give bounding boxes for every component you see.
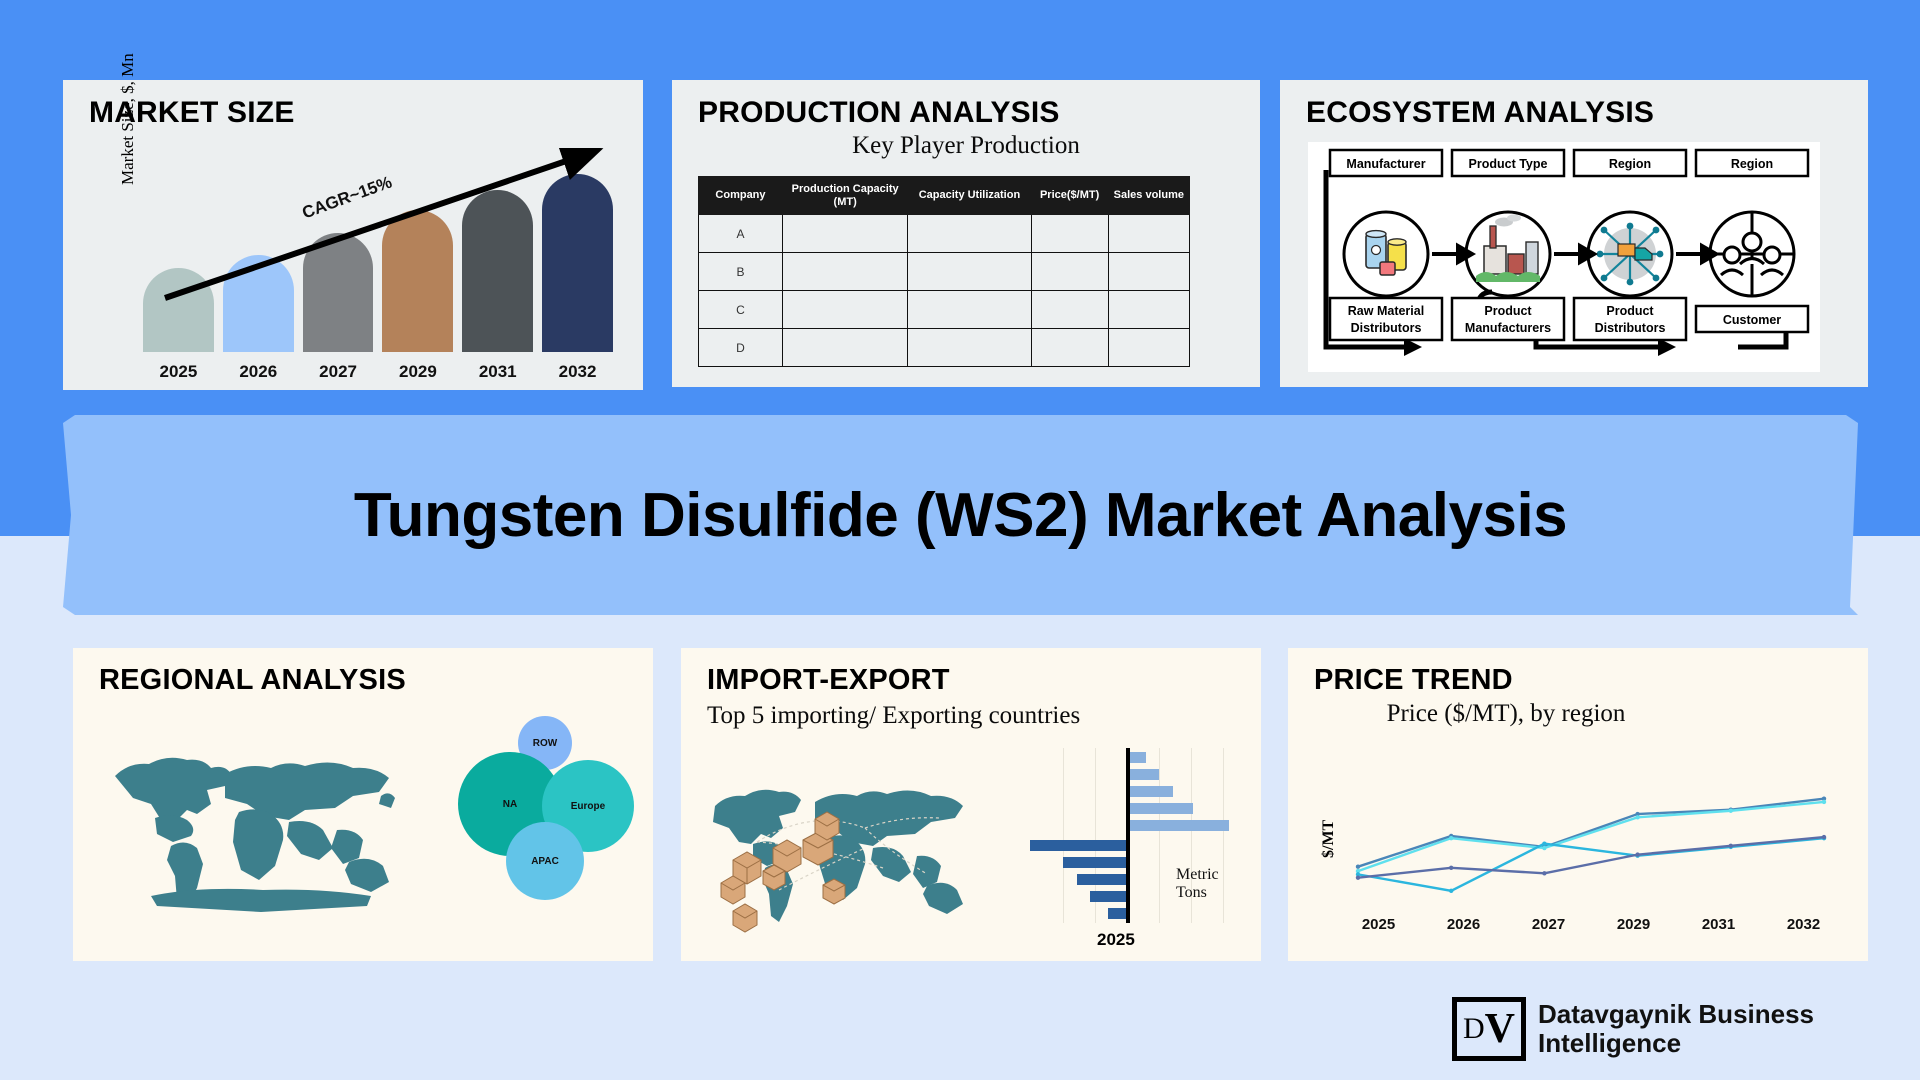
table-cell-volume[interactable] (1108, 291, 1189, 329)
col-header-price: Price($/MT) (1031, 177, 1108, 215)
tornado-year-label: 2025 (1097, 930, 1135, 950)
production-analysis-subtitle: Key Player Production (672, 132, 1260, 160)
col-header-sales-volume: Sales volume (1108, 177, 1189, 215)
tornado-bar-export (1030, 840, 1126, 851)
price-trend-x-tick: 2029 (1591, 916, 1676, 933)
market-size-bar (382, 210, 453, 352)
market-size-x-tick: 2031 (462, 362, 533, 382)
import-export-tornado-chart: 2025 Metric Tons (1001, 748, 1251, 938)
table-cell-price[interactable] (1031, 253, 1108, 291)
ecosystem-top-label: Product Type (1469, 157, 1548, 171)
import-export-title: IMPORT-EXPORT (707, 664, 950, 697)
ecosystem-bottom-label: Distributors (1351, 321, 1422, 335)
market-size-bar (223, 255, 294, 352)
world-map-icon (93, 726, 433, 926)
price-trend-x-tick: 2025 (1336, 916, 1421, 933)
market-size-x-tick: 2025 (143, 362, 214, 382)
ecosystem-bottom-label: Product (1606, 304, 1654, 318)
table-cell-company[interactable]: C (699, 291, 783, 329)
price-trend-data-point (1356, 864, 1360, 868)
tornado-bar-export (1090, 891, 1126, 902)
market-size-bar (303, 233, 374, 352)
price-trend-lines (1336, 786, 1846, 906)
ecosystem-bottom-label: Manufacturers (1465, 321, 1551, 335)
title-banner: Tungsten Disulfide (WS2) Market Analysis (63, 415, 1858, 615)
table-cell-price[interactable] (1031, 215, 1108, 253)
price-trend-x-tick: 2032 (1761, 916, 1846, 933)
price-trend-data-point (1635, 852, 1639, 856)
logo-wordmark: Datavgaynik Business Intelligence (1538, 1000, 1814, 1057)
price-trend-data-point (1542, 841, 1546, 845)
price-trend-data-point (1449, 836, 1453, 840)
table-cell-company[interactable]: B (699, 253, 783, 291)
price-trend-title: PRICE TREND (1314, 664, 1513, 697)
panel-import-export: IMPORT-EXPORT Top 5 importing/ Exporting… (681, 648, 1261, 961)
tornado-bar-export (1108, 908, 1126, 919)
page-title: Tungsten Disulfide (WS2) Market Analysis (354, 480, 1567, 551)
distribution-network-icon (1597, 223, 1664, 286)
tornado-bar-import (1130, 752, 1146, 763)
table-cell-utilization[interactable] (908, 215, 1031, 253)
table-header-row: Company Production Capacity (MT) Capacit… (699, 177, 1190, 215)
logo-line-2: Intelligence (1538, 1029, 1814, 1058)
logo-letter-d: D (1463, 1014, 1485, 1044)
market-size-plot: 202520262027202920312032 CAGR~15% (143, 148, 613, 388)
market-size-x-tick: 2026 (223, 362, 294, 382)
table-cell-utilization[interactable] (908, 329, 1031, 367)
table-cell-utilization[interactable] (908, 253, 1031, 291)
ecosystem-bottom-label: Distributors (1595, 321, 1666, 335)
logo-letter-v: V (1485, 1008, 1515, 1050)
price-trend-data-point (1635, 815, 1639, 819)
col-header-capacity-utilization: Capacity Utilization (908, 177, 1031, 215)
table-cell-price[interactable] (1031, 291, 1108, 329)
region-bubble-chart: ROWNAEuropeAPAC (458, 716, 633, 901)
price-trend-x-tick: 2031 (1676, 916, 1761, 933)
table-cell-volume[interactable] (1108, 215, 1189, 253)
price-trend-x-tick: 2026 (1421, 916, 1506, 933)
price-trend-data-point (1729, 844, 1733, 848)
infographic-canvas: MARKET SIZE Market Size, $, Mn 202520262… (0, 0, 1920, 1080)
tornado-unit-label: Metric Tons (1176, 866, 1251, 902)
table-body: ABCD (699, 215, 1190, 367)
panel-price-trend: PRICE TREND Price ($/MT), by region $/MT… (1288, 648, 1868, 961)
table-cell-capacity[interactable] (782, 253, 907, 291)
logo-mark-dv: DV (1452, 997, 1526, 1061)
ecosystem-top-label: Manufacturer (1346, 157, 1425, 171)
ecosystem-diagram: ManufacturerProduct TypeRegionRegion Raw… (1308, 142, 1820, 372)
ecosystem-flow-svg: ManufacturerProduct TypeRegionRegion Raw… (1308, 142, 1820, 372)
col-header-production-capacity: Production Capacity (MT) (782, 177, 907, 215)
tornado-center-axis (1126, 748, 1130, 923)
price-trend-data-point (1542, 846, 1546, 850)
col-header-capacity-line1: Production Capacity (792, 183, 899, 195)
table-cell-volume[interactable] (1108, 253, 1189, 291)
price-trend-x-tick: 2027 (1506, 916, 1591, 933)
price-trend-series-line (1358, 802, 1824, 871)
table-cell-company[interactable]: A (699, 215, 783, 253)
tornado-bar-import (1130, 820, 1229, 831)
import-export-subtitle: Top 5 importing/ Exporting countries (707, 702, 1080, 730)
table-row[interactable]: B (699, 253, 1190, 291)
tornado-bar-export (1077, 874, 1126, 885)
ecosystem-top-label: Region (1731, 157, 1773, 171)
key-player-production-table: Company Production Capacity (MT) Capacit… (698, 176, 1190, 367)
price-trend-data-point (1356, 875, 1360, 879)
table-row[interactable]: A (699, 215, 1190, 253)
ecosystem-bottom-label: Product (1484, 304, 1532, 318)
market-size-bar (143, 268, 214, 352)
market-size-x-tick-labels: 202520262027202920312032 (143, 362, 613, 382)
market-size-bar (462, 190, 533, 352)
table-cell-volume[interactable] (1108, 329, 1189, 367)
price-trend-data-point (1449, 866, 1453, 870)
regional-analysis-title: REGIONAL ANALYSIS (99, 664, 406, 697)
table-cell-company[interactable]: D (699, 329, 783, 367)
tornado-bar-export (1063, 857, 1126, 868)
company-logo: DV Datavgaynik Business Intelligence (1452, 990, 1862, 1068)
table-cell-utilization[interactable] (908, 291, 1031, 329)
table-cell-capacity[interactable] (782, 329, 907, 367)
col-header-company: Company (699, 177, 783, 215)
market-size-y-axis-label: Market Size, $, Mn (118, 53, 138, 185)
market-size-x-tick: 2029 (382, 362, 453, 382)
table-cell-price[interactable] (1031, 329, 1108, 367)
table-row[interactable]: C (699, 291, 1190, 329)
logo-line-1: Datavgaynik Business (1538, 1000, 1814, 1029)
panel-production-analysis: PRODUCTION ANALYSIS Key Player Productio… (672, 80, 1260, 387)
table-row[interactable]: D (699, 329, 1190, 367)
production-analysis-title: PRODUCTION ANALYSIS (698, 96, 1060, 130)
market-size-x-tick: 2027 (303, 362, 374, 382)
market-size-bar (542, 174, 613, 352)
panel-regional-analysis: REGIONAL ANALYSIS ROWNAEuropeAPAC (73, 648, 653, 961)
trade-routes-map-icon (699, 758, 989, 938)
table-cell-capacity[interactable] (782, 215, 907, 253)
market-size-x-tick: 2032 (542, 362, 613, 382)
price-trend-data-point (1729, 809, 1733, 813)
price-trend-data-point (1542, 871, 1546, 875)
price-trend-x-tick-labels: 202520262027202920312032 (1336, 916, 1846, 933)
tornado-bar-import (1130, 803, 1193, 814)
table-cell-capacity[interactable] (782, 291, 907, 329)
ecosystem-analysis-title: ECOSYSTEM ANALYSIS (1306, 96, 1654, 130)
ecosystem-top-label: Region (1609, 157, 1651, 171)
region-bubble: APAC (506, 822, 584, 900)
ecosystem-bottom-label: Raw Material (1348, 304, 1424, 318)
tornado-bar-import (1130, 769, 1159, 780)
price-trend-subtitle: Price ($/MT), by region (1346, 698, 1666, 729)
ecosystem-bottom-label: Customer (1723, 313, 1781, 327)
price-trend-data-point (1822, 800, 1826, 804)
panel-ecosystem-analysis: ECOSYSTEM ANALYSIS (1280, 80, 1868, 387)
panel-market-size: MARKET SIZE Market Size, $, Mn 202520262… (63, 80, 643, 390)
price-trend-data-point (1822, 835, 1826, 839)
price-trend-data-point (1449, 889, 1453, 893)
col-header-capacity-line2: (MT) (834, 196, 857, 208)
tornado-bar-import (1130, 786, 1173, 797)
